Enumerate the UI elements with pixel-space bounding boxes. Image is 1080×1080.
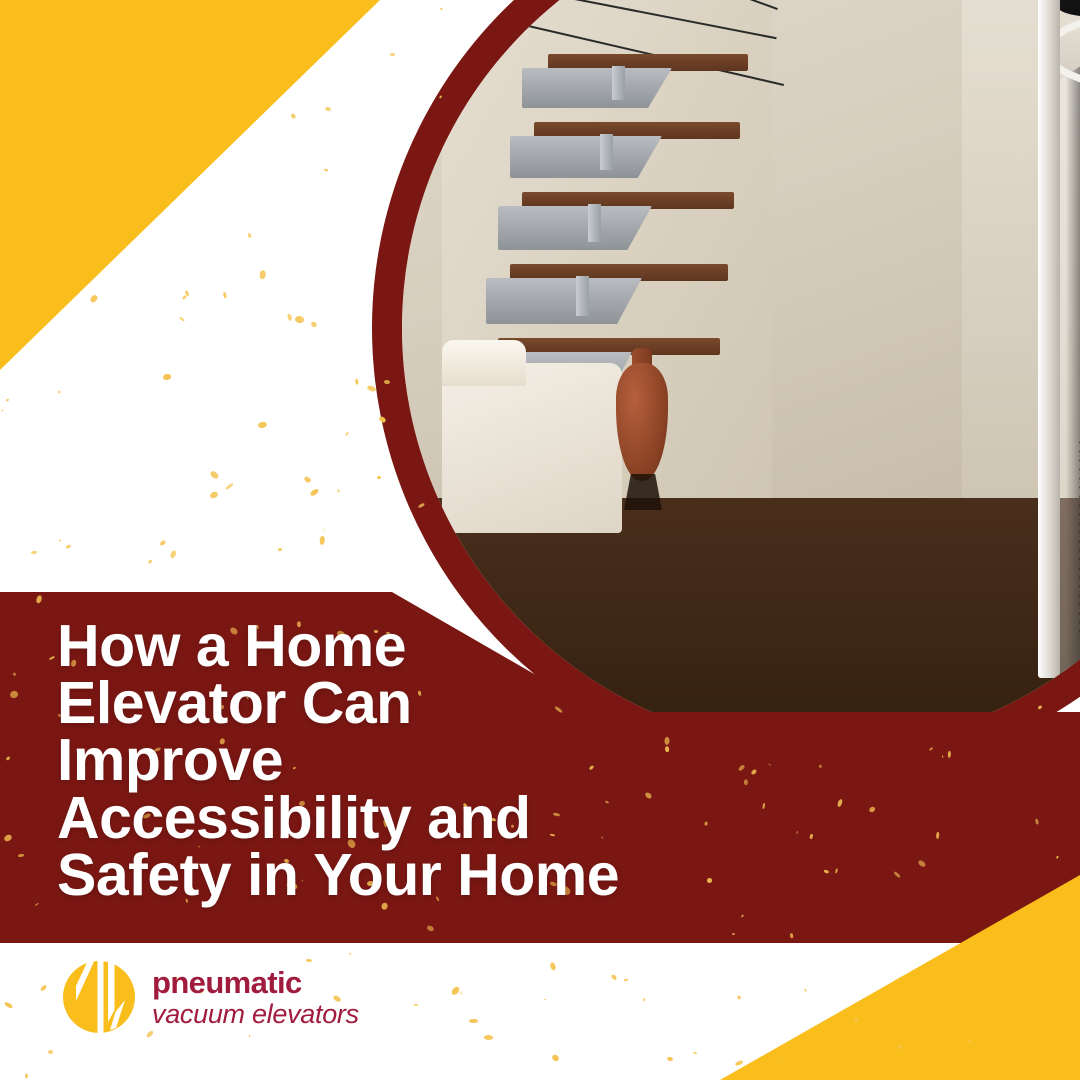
confetti-speck	[258, 421, 268, 429]
confetti-speck	[550, 961, 557, 970]
elevator-rail-left	[1038, 0, 1060, 678]
confetti-speck	[692, 1051, 696, 1054]
confetti-speck	[376, 475, 380, 479]
confetti-speck	[259, 270, 266, 279]
confetti-speck	[390, 53, 395, 56]
confetti-speck	[345, 432, 349, 436]
yellow-corner-top-left	[0, 0, 380, 370]
stair-post	[612, 66, 625, 100]
confetti-speck	[666, 1057, 673, 1062]
confetti-speck	[736, 995, 741, 1000]
confetti-speck	[224, 483, 233, 491]
stair-stringer	[510, 136, 662, 178]
brand-logo[interactable]: pneumatic vacuum elevators	[62, 960, 359, 1034]
confetti-speck	[31, 551, 37, 555]
confetti-speck	[643, 998, 645, 1001]
confetti-speck	[89, 294, 98, 304]
confetti-speck	[323, 528, 325, 531]
promotional-poster: How a Home Elevator Can Improve Accessib…	[0, 0, 1080, 1080]
stair-stringer	[498, 206, 652, 250]
confetti-speck	[310, 320, 318, 328]
stair-post	[576, 276, 589, 316]
confetti-speck	[337, 489, 340, 493]
logo-word-secondary: vacuum elevators	[152, 1001, 359, 1028]
confetti-speck	[25, 1072, 29, 1078]
confetti-speck	[348, 952, 351, 954]
confetti-speck	[159, 540, 166, 547]
confetti-speck	[249, 1034, 251, 1037]
stair-stringer	[522, 68, 672, 108]
sofa-armrest	[442, 340, 526, 386]
confetti-speck	[40, 984, 48, 992]
stair-post	[600, 134, 613, 170]
confetti-speck	[65, 544, 71, 549]
confetti-speck	[290, 113, 296, 119]
confetti-speck	[59, 540, 61, 542]
confetti-speck	[181, 294, 186, 299]
confetti-speck	[278, 548, 283, 551]
confetti-speck	[48, 1050, 53, 1055]
confetti-speck	[4, 1001, 13, 1009]
logo-wordmark: pneumatic vacuum elevators	[152, 967, 359, 1028]
pve-circle-monogram-icon	[62, 960, 136, 1034]
stair-stringer	[486, 278, 642, 324]
confetti-speck	[450, 986, 460, 996]
confetti-speck	[179, 317, 185, 322]
confetti-speck	[184, 290, 189, 297]
pneumatic-elevator	[720, 0, 1080, 708]
confetti-speck	[248, 232, 252, 238]
confetti-speck	[324, 168, 328, 172]
confetti-speck	[170, 550, 177, 559]
page-title: How a Home Elevator Can Improve Accessib…	[57, 618, 677, 904]
confetti-speck	[544, 998, 546, 1000]
confetti-speck	[324, 106, 331, 112]
confetti-speck	[484, 1035, 493, 1040]
confetti-speck	[355, 379, 359, 385]
confetti-speck	[303, 476, 311, 484]
confetti-speck	[414, 1004, 419, 1006]
confetti-speck	[223, 292, 227, 299]
sofa	[442, 363, 622, 533]
confetti-speck	[735, 1060, 744, 1067]
confetti-speck	[804, 988, 807, 991]
confetti-speck	[459, 991, 462, 995]
confetti-speck	[5, 398, 9, 401]
confetti-speck	[469, 1019, 478, 1023]
confetti-speck	[209, 470, 220, 480]
confetti-speck	[147, 559, 152, 564]
confetti-speck	[1, 409, 4, 412]
confetti-speck	[309, 488, 319, 497]
confetti-speck	[162, 373, 170, 380]
confetti-speck	[624, 978, 628, 981]
confetti-speck	[286, 314, 292, 322]
confetti-speck	[319, 536, 325, 545]
elevator-mesh-panel	[1076, 438, 1080, 638]
stair-post	[588, 204, 601, 242]
confetti-speck	[209, 490, 219, 499]
elevator-head-unit	[1058, 0, 1080, 18]
confetti-speck	[551, 1054, 560, 1063]
confetti-speck	[58, 390, 60, 393]
confetti-speck	[294, 315, 303, 323]
logo-word-primary: pneumatic	[152, 967, 359, 998]
confetti-speck	[610, 974, 617, 981]
